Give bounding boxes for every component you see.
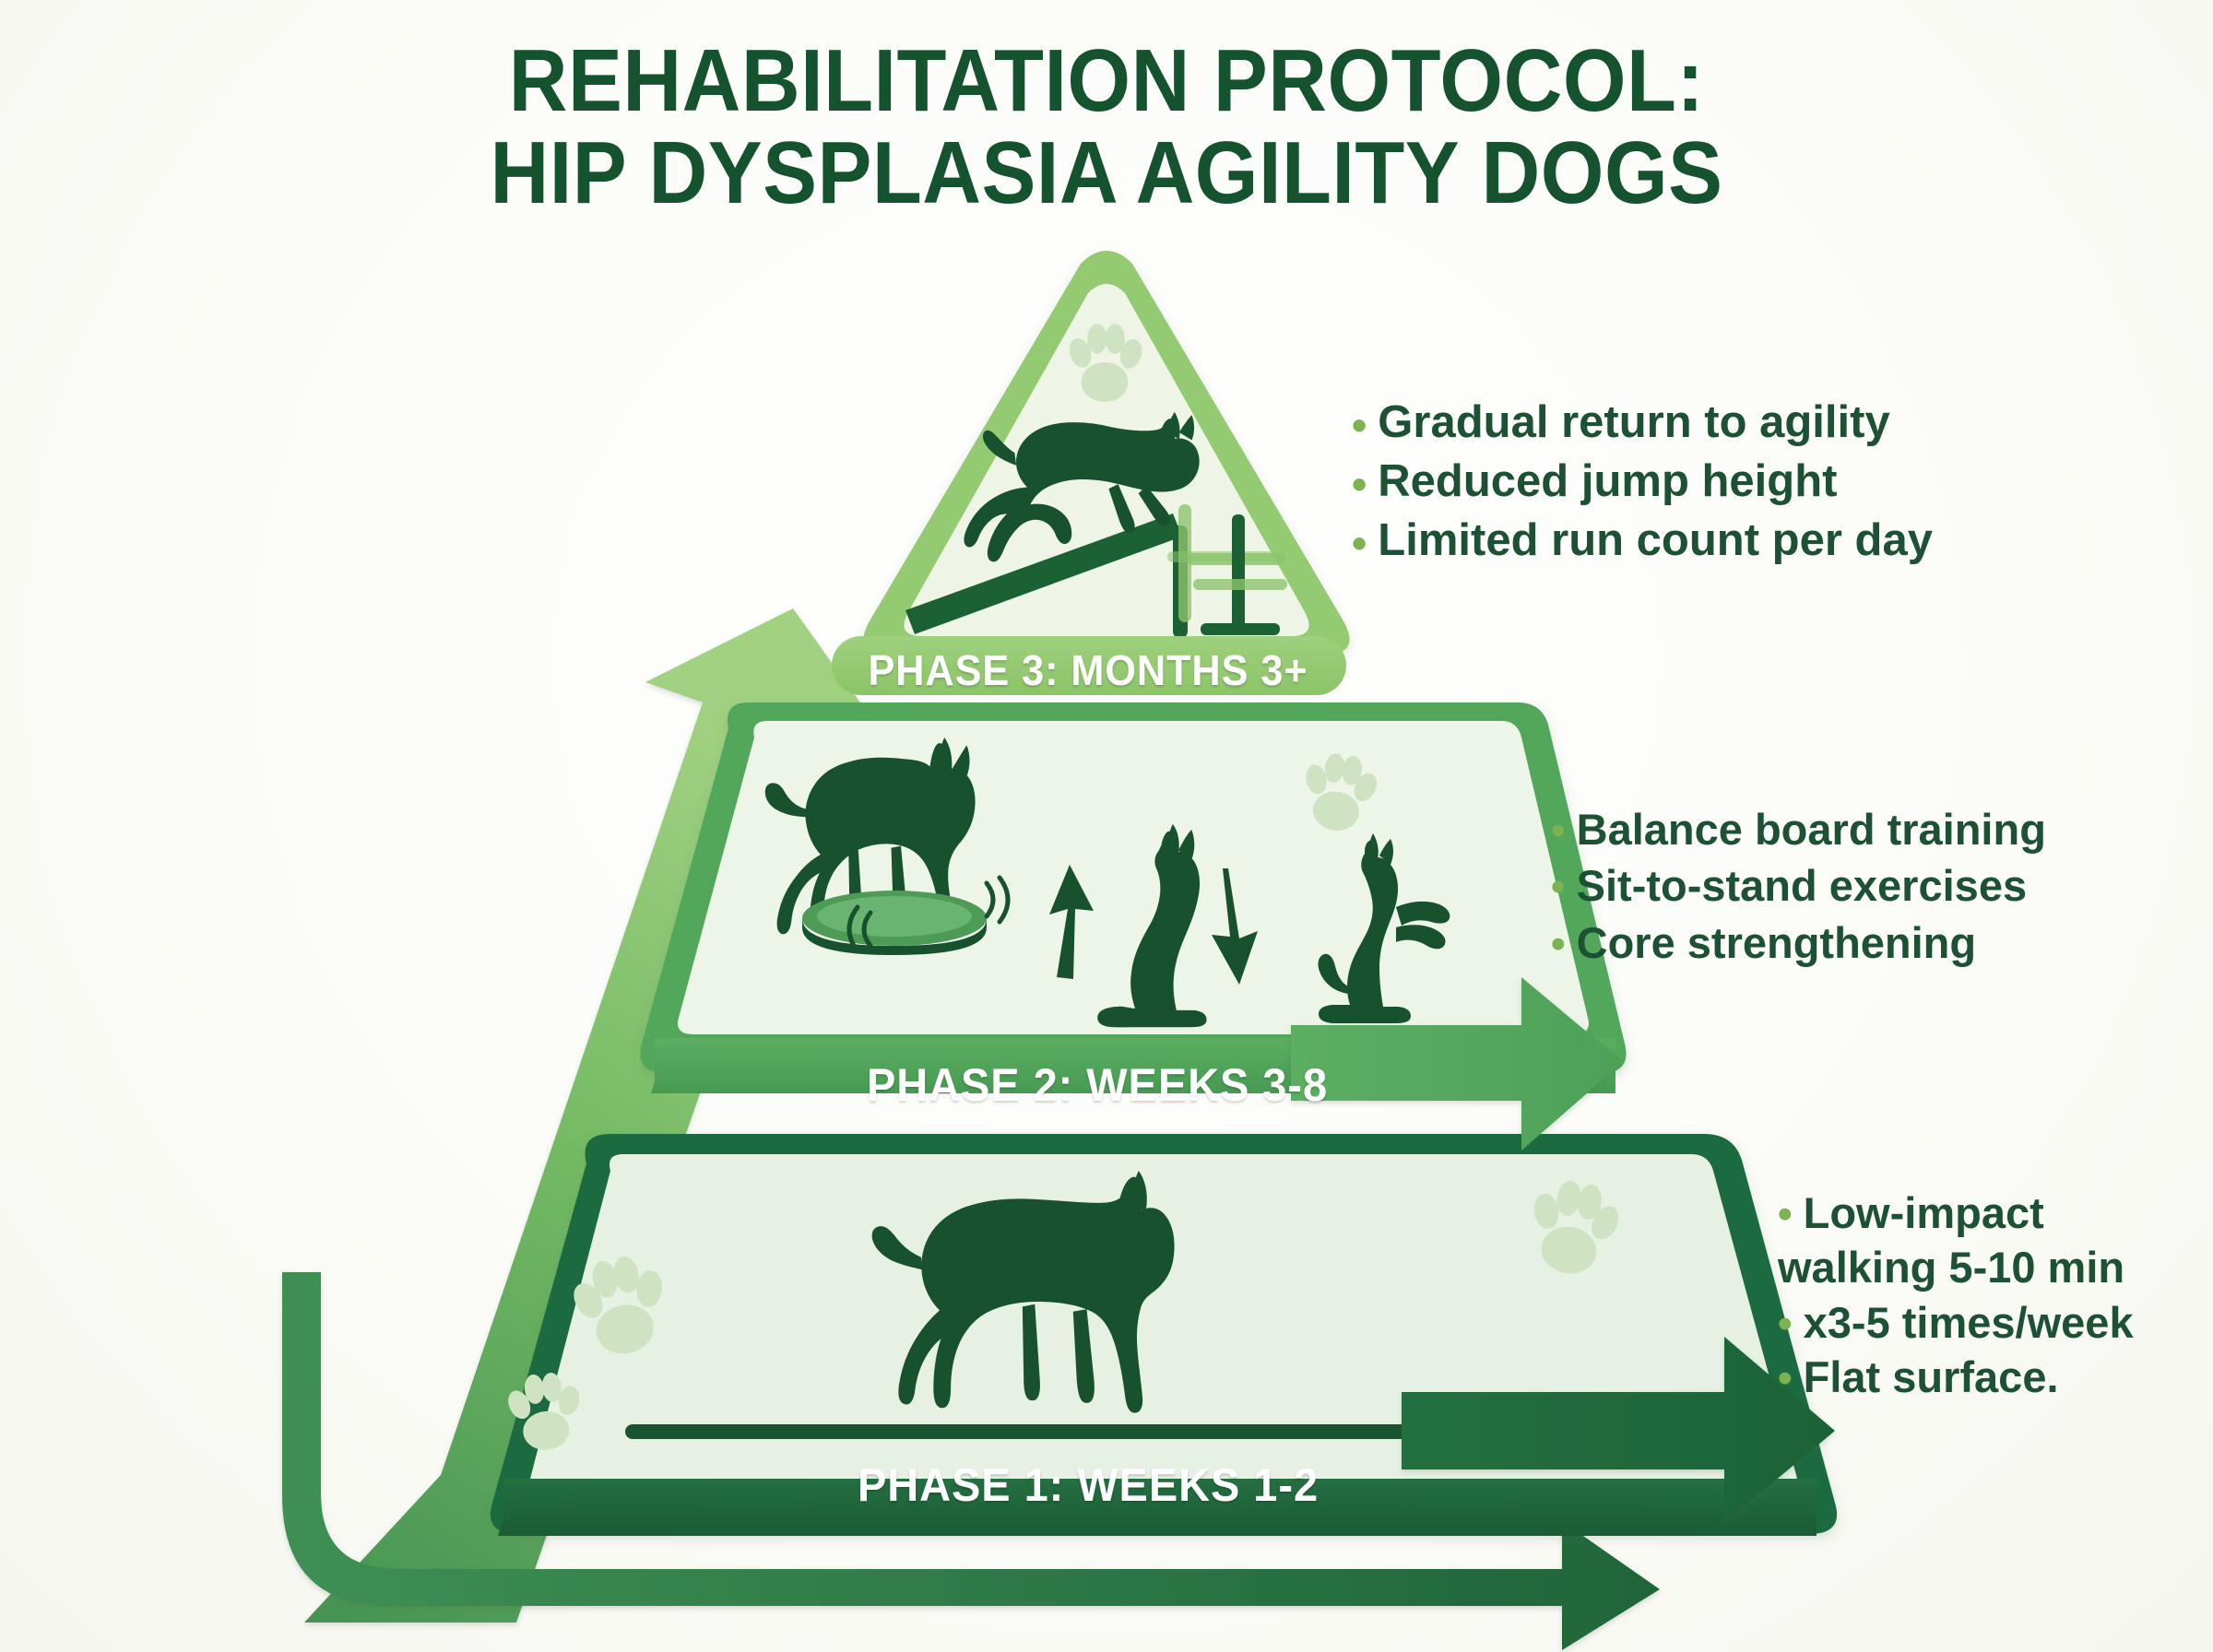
bullet-dot-icon: • — [1551, 860, 1566, 909]
bullet-label: walking 5-10 min — [1778, 1242, 2124, 1292]
bullet-label: Reduced jump height — [1378, 455, 1837, 509]
phase2-bullet-list: • Balance board training • Sit-to-stand … — [1551, 804, 2046, 973]
bullet-item: • Low-impact — [1778, 1187, 2134, 1238]
title-line-2: HIP DYSPLASIA AGILITY DOGS — [89, 127, 2124, 219]
phase3-tier[interactable] — [863, 251, 1349, 655]
bullet-label: Low-impact — [1804, 1187, 2044, 1238]
bullet-dot-icon: • — [1551, 917, 1566, 966]
bullet-item: • Core strengthening — [1551, 917, 2046, 968]
bullet-dot-icon: • — [1778, 1187, 1793, 1236]
balance-board-icon — [802, 891, 987, 955]
bullet-item: • Reduced jump height — [1352, 455, 1933, 509]
bullet-label: Gradual return to agility — [1378, 396, 1889, 450]
phase3-band-label: PHASE 3: MONTHS 3+ — [846, 645, 1331, 695]
bullet-label: Flat surface. — [1804, 1351, 2059, 1402]
bullet-dot-icon: • — [1778, 1351, 1793, 1400]
phase1-bullet-list: • Low-impact walking 5-10 min • x3-5 tim… — [1778, 1187, 2134, 1407]
phase3-bullet-list: • Gradual return to agility • Reduced ju… — [1352, 396, 1933, 572]
bullet-item: • Flat surface. — [1778, 1351, 2134, 1402]
bullet-item: • Limited run count per day — [1352, 514, 1933, 568]
bullet-label: x3-5 times/week — [1804, 1297, 2134, 1348]
bullet-label: Limited run count per day — [1378, 514, 1933, 568]
bullet-label: Sit-to-stand exercises — [1577, 860, 2027, 911]
phase2-band-label: PHASE 2: WEEKS 3-8 — [672, 1058, 1521, 1112]
bullet-dot-icon: • — [1778, 1297, 1793, 1346]
bullet-dot-icon: • — [1352, 396, 1367, 447]
title-line-1: REHABILITATION PROTOCOL: — [89, 35, 2124, 127]
phase1-band-label: PHASE 1: WEEKS 1-2 — [586, 1458, 1591, 1512]
bullet-dot-icon: • — [1352, 514, 1367, 565]
bullet-item: • Sit-to-stand exercises — [1551, 860, 2046, 911]
bullet-label: Core strengthening — [1577, 917, 1976, 968]
bullet-item: • x3-5 times/week — [1778, 1297, 2134, 1348]
bullet-item-continuation: walking 5-10 min — [1778, 1242, 2134, 1292]
bullet-label: Balance board training — [1577, 804, 2046, 855]
page-title: REHABILITATION PROTOCOL: HIP DYSPLASIA A… — [0, 35, 2213, 219]
bullet-item: • Gradual return to agility — [1352, 396, 1933, 450]
phase2-tier[interactable] — [640, 702, 1626, 1073]
bullet-dot-icon: • — [1352, 455, 1367, 506]
bullet-item: • Balance board training — [1551, 804, 2046, 855]
infographic-root: REHABILITATION PROTOCOL: HIP DYSPLASIA A… — [0, 0, 2213, 1652]
bullet-dot-icon: • — [1551, 804, 1566, 853]
